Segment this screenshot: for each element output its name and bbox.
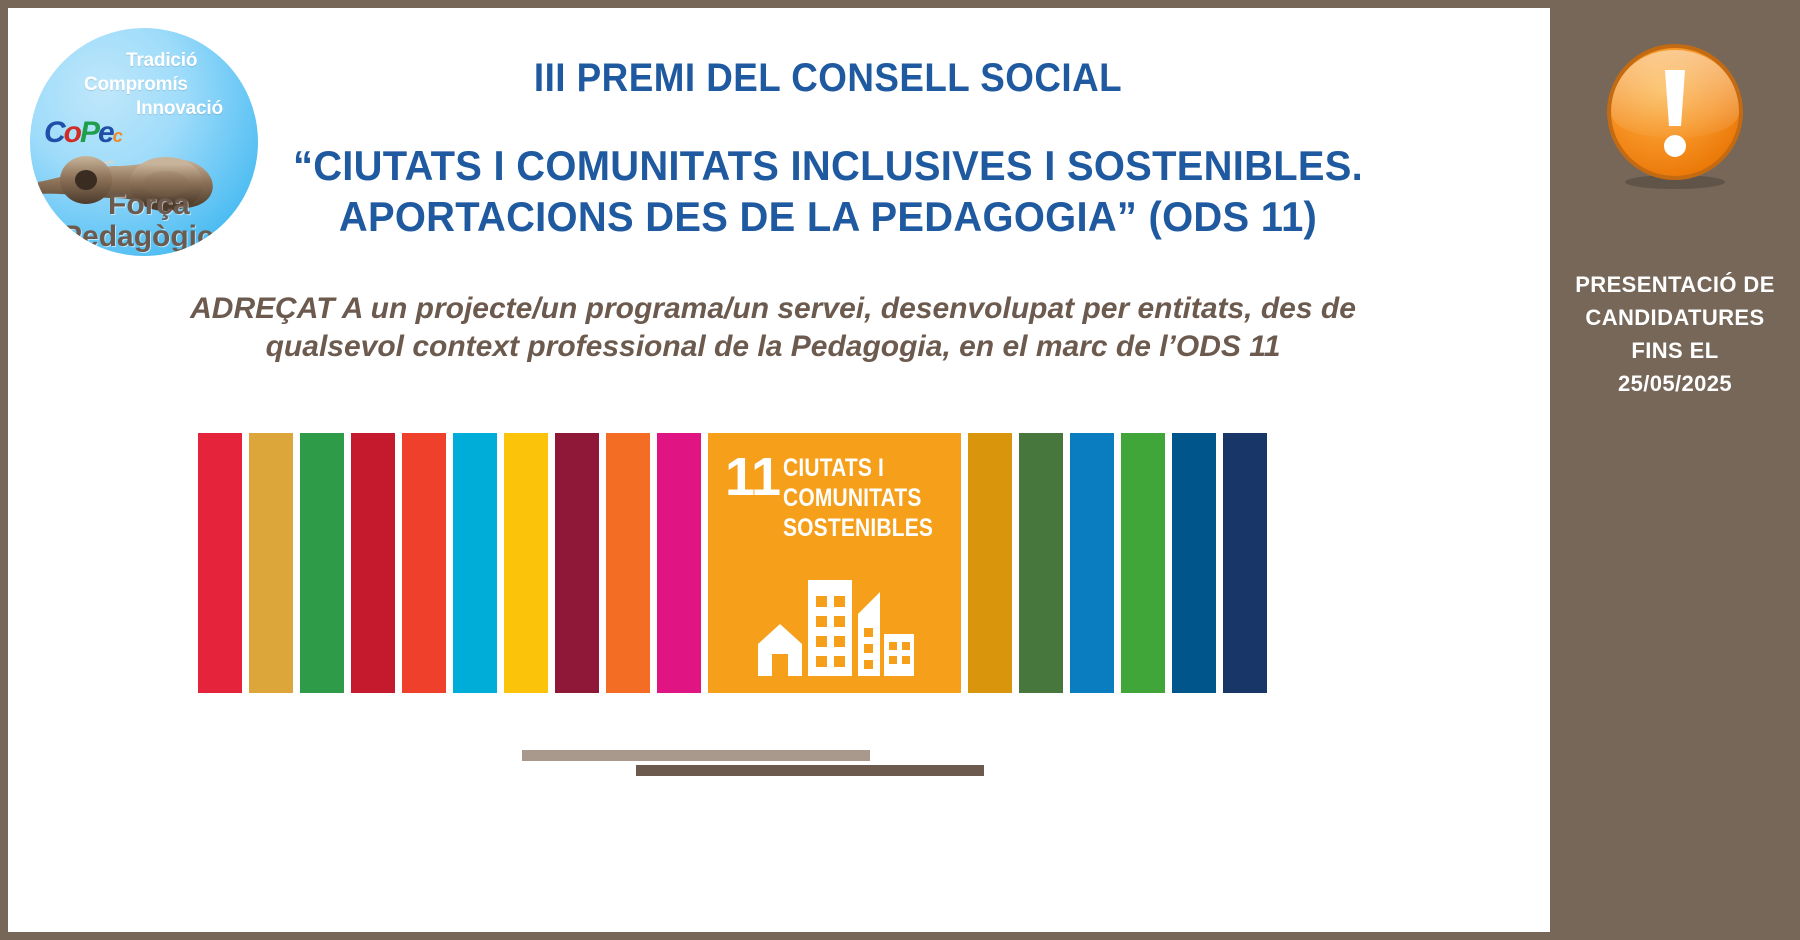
logo-word-pedagogica: Pedagògica xyxy=(62,220,230,254)
deadline-date: 25/05/2025 xyxy=(1554,367,1796,400)
addressed-to-text: ADREÇAT A un projecte/un programa/un ser… xyxy=(183,290,1363,366)
slide-content: Tradició Compromís Innovació CoPec xyxy=(8,8,1550,932)
page-subtitle-line-1: “CIUTATS I COMUNITATS INCLUSIVES I SOSTE… xyxy=(287,140,1370,191)
sdg-bar-17 xyxy=(1223,433,1267,693)
copec-logo-badge: Tradició Compromís Innovació CoPec xyxy=(30,28,258,256)
sdg-bar-14 xyxy=(1070,433,1114,693)
sdg-bar-4 xyxy=(351,433,395,693)
page-subtitle: “CIUTATS I COMUNITATS INCLUSIVES I SOSTE… xyxy=(287,140,1370,242)
page-title: III PREMI DEL CONSELL SOCIAL xyxy=(313,56,1343,101)
sdg-goal-label: CIUTATS I COMUNITATS SOSTENIBLES xyxy=(783,453,933,543)
sdg-bar-3 xyxy=(300,433,344,693)
deadline-text: PRESENTACIÓ DE CANDIDATURES FINS EL 25/0… xyxy=(1554,268,1796,400)
exclamation-circle-icon xyxy=(1601,42,1749,190)
sdg-goal-11-tile: 11 CIUTATS I COMUNITATS SOSTENIBLES xyxy=(708,433,961,693)
logo-tagline-compromis: Compromís xyxy=(84,74,188,96)
sdg-bar-13 xyxy=(1019,433,1063,693)
deadline-sidebar: PRESENTACIÓ DE CANDIDATURES FINS EL 25/0… xyxy=(1550,0,1800,940)
sdg-goal-number: 11 xyxy=(725,450,780,504)
accent-bar-light xyxy=(522,750,870,761)
sdg-bar-7 xyxy=(504,433,548,693)
sdg-goal-strip: 11 CIUTATS I COMUNITATS SOSTENIBLES xyxy=(198,433,1267,693)
sdg-bar-8 xyxy=(555,433,599,693)
sdg-bar-2 xyxy=(249,433,293,693)
page-subtitle-line-2: APORTACIONS DES DE LA PEDAGOGIA” (ODS 11… xyxy=(287,191,1370,242)
deadline-line-1: PRESENTACIÓ DE xyxy=(1554,268,1796,301)
sdg-bar-1 xyxy=(198,433,242,693)
sdg-bar-12 xyxy=(968,433,1012,693)
sdg-bar-10 xyxy=(657,433,701,693)
sdg-bar-5 xyxy=(402,433,446,693)
logo-tagline-tradicio: Tradició xyxy=(126,50,197,72)
accent-bar-dark xyxy=(636,765,984,776)
sdg-bar-15 xyxy=(1121,433,1165,693)
sdg-bar-6 xyxy=(453,433,497,693)
deadline-line-3: FINS EL xyxy=(1554,334,1796,367)
slide-canvas: Tradició Compromís Innovació CoPec xyxy=(0,0,1800,940)
sdg-bar-16 xyxy=(1172,433,1216,693)
city-buildings-icon xyxy=(756,572,916,677)
deadline-line-2: CANDIDATURES xyxy=(1554,301,1796,334)
logo-word-forca: Força xyxy=(108,188,190,222)
sdg-bar-9 xyxy=(606,433,650,693)
